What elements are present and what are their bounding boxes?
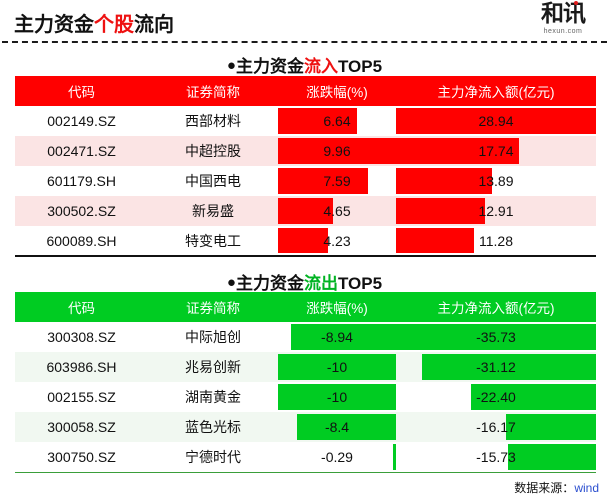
cell-code: 603986.SH <box>15 352 148 382</box>
cell-name: 湖南黄金 <box>148 382 278 412</box>
report-page: 主力资金个股流向 和讯 hexun.com ●主力资金流入TOP5 代码 证券简… <box>0 0 609 500</box>
cell-change-text: 4.65 <box>323 203 350 219</box>
cell-netflow-text: -35.73 <box>476 329 516 345</box>
page-title-part-1: 主力资金 <box>14 14 94 36</box>
cell-code: 600089.SH <box>15 226 148 256</box>
cell-change-text: 7.59 <box>323 173 350 189</box>
inflow-table-body: 002149.SZ西部材料6.6428.94002471.SZ中超控股9.961… <box>15 106 596 256</box>
cell-code: 002149.SZ <box>15 106 148 136</box>
cell-code-text: 002155.SZ <box>47 389 116 405</box>
cell-change: 6.64 <box>278 106 396 136</box>
page-title-accent: 个股 <box>94 14 134 36</box>
cell-change: -10 <box>278 382 396 412</box>
cell-name: 宁德时代 <box>148 442 278 472</box>
cell-code-text: 601179.SH <box>47 173 116 189</box>
cell-netflow: 13.89 <box>396 166 596 196</box>
table-row[interactable]: 600089.SH特变电工4.2311.28 <box>15 226 596 256</box>
cell-change-text: -8.94 <box>321 329 353 345</box>
cell-name-text: 蓝色光标 <box>185 419 241 435</box>
cell-name-text: 新易盛 <box>192 203 234 219</box>
page-title-part-2: 流向 <box>134 14 174 36</box>
cell-name-text: 兆易创新 <box>185 359 241 375</box>
cell-code-text: 603986.SH <box>46 359 116 375</box>
table-row[interactable]: 002155.SZ湖南黄金-10-22.40 <box>15 382 596 412</box>
cell-netflow-bar <box>396 228 474 253</box>
cell-name-text: 宁德时代 <box>185 449 241 465</box>
table-row[interactable]: 002149.SZ西部材料6.6428.94 <box>15 106 596 136</box>
cell-name: 西部材料 <box>148 106 278 136</box>
cell-change-bar <box>278 228 328 253</box>
cell-netflow-bar <box>506 414 597 440</box>
cell-code: 002471.SZ <box>15 136 148 166</box>
cell-netflow: 12.91 <box>396 196 596 226</box>
cell-code-text: 300058.SZ <box>47 419 116 435</box>
hexun-logo[interactable]: 和讯 hexun.com <box>525 2 601 40</box>
section-title-inflow-part-1: 主力资金 <box>236 57 304 76</box>
table-row[interactable]: 300058.SZ蓝色光标-8.4-16.17 <box>15 412 596 442</box>
cell-netflow: -31.12 <box>396 352 596 382</box>
data-source-value: wind <box>574 481 599 495</box>
table-row[interactable]: 300750.SZ宁德时代-0.29-15.73 <box>15 442 596 472</box>
cell-name: 蓝色光标 <box>148 412 278 442</box>
cell-netflow: -22.40 <box>396 382 596 412</box>
outflow-table: 代码 证券简称 涨跌幅(%) 主力净流入额(亿元) 300308.SZ中际旭创-… <box>15 292 596 473</box>
cell-code: 601179.SH <box>15 166 148 196</box>
cell-code-text: 600089.SH <box>46 233 116 249</box>
cell-netflow: 28.94 <box>396 106 596 136</box>
cell-change: 7.59 <box>278 166 396 196</box>
cell-netflow-text: -16.17 <box>476 419 516 435</box>
cell-name-text: 湖南黄金 <box>185 389 241 405</box>
cell-name-text: 中际旭创 <box>185 329 241 345</box>
col-header-netflow: 主力净流入额(亿元) <box>396 76 596 106</box>
cell-code-text: 300750.SZ <box>47 449 116 465</box>
cell-code-text: 300308.SZ <box>47 329 116 345</box>
cell-name-text: 西部材料 <box>185 113 241 129</box>
col-header-change: 涨跌幅(%) <box>278 292 396 322</box>
page-title: 主力资金个股流向 <box>14 8 174 37</box>
cell-code-text: 002149.SZ <box>47 113 116 129</box>
cell-netflow-text: 28.94 <box>478 113 513 129</box>
cell-netflow-text: -31.12 <box>476 359 516 375</box>
cell-change-text: -0.29 <box>321 449 353 465</box>
page-header: 主力资金个股流向 和讯 hexun.com <box>0 0 609 43</box>
cell-code: 002155.SZ <box>15 382 148 412</box>
header-divider <box>2 41 607 43</box>
col-header-name: 证券简称 <box>148 292 278 322</box>
col-header-code: 代码 <box>15 292 148 322</box>
col-header-netflow: 主力净流入额(亿元) <box>396 292 596 322</box>
outflow-table-body: 300308.SZ中际旭创-8.94-35.73603986.SH兆易创新-10… <box>15 322 596 472</box>
cell-netflow: 17.74 <box>396 136 596 166</box>
cell-code: 300308.SZ <box>15 322 148 352</box>
logo-dot-icon <box>574 1 578 5</box>
logo-wordmark: 和讯 <box>541 2 585 27</box>
cell-name-text: 特变电工 <box>185 233 241 249</box>
table-row[interactable]: 300502.SZ新易盛4.6512.91 <box>15 196 596 226</box>
col-header-code: 代码 <box>15 76 148 106</box>
bullet-icon-outflow: ● <box>227 274 236 291</box>
section-title-outflow-part-2: TOP5 <box>338 274 382 293</box>
section-title-outflow-part-1: 主力资金 <box>236 274 304 293</box>
inflow-table: 代码 证券简称 涨跌幅(%) 主力净流入额(亿元) 002149.SZ西部材料6… <box>15 76 596 257</box>
cell-code: 300058.SZ <box>15 412 148 442</box>
cell-change: 9.96 <box>278 136 396 166</box>
logo-domain: hexun.com <box>525 28 601 35</box>
section-title-inflow-part-2: TOP5 <box>338 57 382 76</box>
cell-netflow: -35.73 <box>396 322 596 352</box>
cell-netflow: 11.28 <box>396 226 596 256</box>
cell-name: 兆易创新 <box>148 352 278 382</box>
table-row[interactable]: 300308.SZ中际旭创-8.94-35.73 <box>15 322 596 352</box>
cell-netflow-text: 12.91 <box>478 203 513 219</box>
cell-change-text: 4.23 <box>323 233 350 249</box>
cell-change-bar <box>393 444 396 470</box>
table-row[interactable]: 002471.SZ中超控股9.9617.74 <box>15 136 596 166</box>
cell-code: 300502.SZ <box>15 196 148 226</box>
cell-change: -8.4 <box>278 412 396 442</box>
cell-netflow-bar <box>396 198 485 224</box>
cell-change: 4.65 <box>278 196 396 226</box>
data-source-label: 数据来源： <box>514 481 574 495</box>
outflow-header-row: 代码 证券简称 涨跌幅(%) 主力净流入额(亿元) <box>15 292 596 322</box>
cell-netflow-text: 17.74 <box>478 143 513 159</box>
cell-netflow-text: 13.89 <box>478 173 513 189</box>
cell-code: 300750.SZ <box>15 442 148 472</box>
cell-change-text: 6.64 <box>323 113 350 129</box>
cell-change: -8.94 <box>278 322 396 352</box>
cell-netflow-bar <box>508 444 596 470</box>
table-row[interactable]: 603986.SH兆易创新-10-31.12 <box>15 352 596 382</box>
table-row[interactable]: 601179.SH中国西电7.5913.89 <box>15 166 596 196</box>
inflow-header-row: 代码 证券简称 涨跌幅(%) 主力净流入额(亿元) <box>15 76 596 106</box>
section-title-inflow-accent: 流入 <box>304 57 338 76</box>
cell-change: 4.23 <box>278 226 396 256</box>
section-title-outflow: ●主力资金流出TOP5 <box>0 269 609 294</box>
section-title-outflow-accent: 流出 <box>304 274 338 293</box>
cell-change-text: -10 <box>327 389 347 405</box>
cell-name: 中际旭创 <box>148 322 278 352</box>
section-title-inflow: ●主力资金流入TOP5 <box>0 52 609 77</box>
cell-change-text: -10 <box>327 359 347 375</box>
cell-netflow: -15.73 <box>396 442 596 472</box>
cell-name: 中国西电 <box>148 166 278 196</box>
bullet-icon-inflow: ● <box>227 57 236 74</box>
col-header-change: 涨跌幅(%) <box>278 76 396 106</box>
logo-mark-text: 和讯 <box>541 1 585 27</box>
cell-change-text: 9.96 <box>323 143 350 159</box>
cell-netflow: -16.17 <box>396 412 596 442</box>
cell-name-text: 中国西电 <box>185 173 241 189</box>
cell-name-text: 中超控股 <box>185 143 241 159</box>
cell-netflow-text: -22.40 <box>476 389 516 405</box>
cell-change: -0.29 <box>278 442 396 472</box>
cell-name: 新易盛 <box>148 196 278 226</box>
col-header-name: 证券简称 <box>148 76 278 106</box>
cell-name: 特变电工 <box>148 226 278 256</box>
cell-code-text: 002471.SZ <box>47 143 116 159</box>
cell-name: 中超控股 <box>148 136 278 166</box>
cell-netflow-text: -15.73 <box>476 449 516 465</box>
cell-netflow-text: 11.28 <box>479 233 513 249</box>
cell-change: -10 <box>278 352 396 382</box>
data-source-note: 数据来源：wind <box>514 479 599 496</box>
cell-change-text: -8.4 <box>325 419 349 435</box>
cell-code-text: 300502.SZ <box>47 203 116 219</box>
